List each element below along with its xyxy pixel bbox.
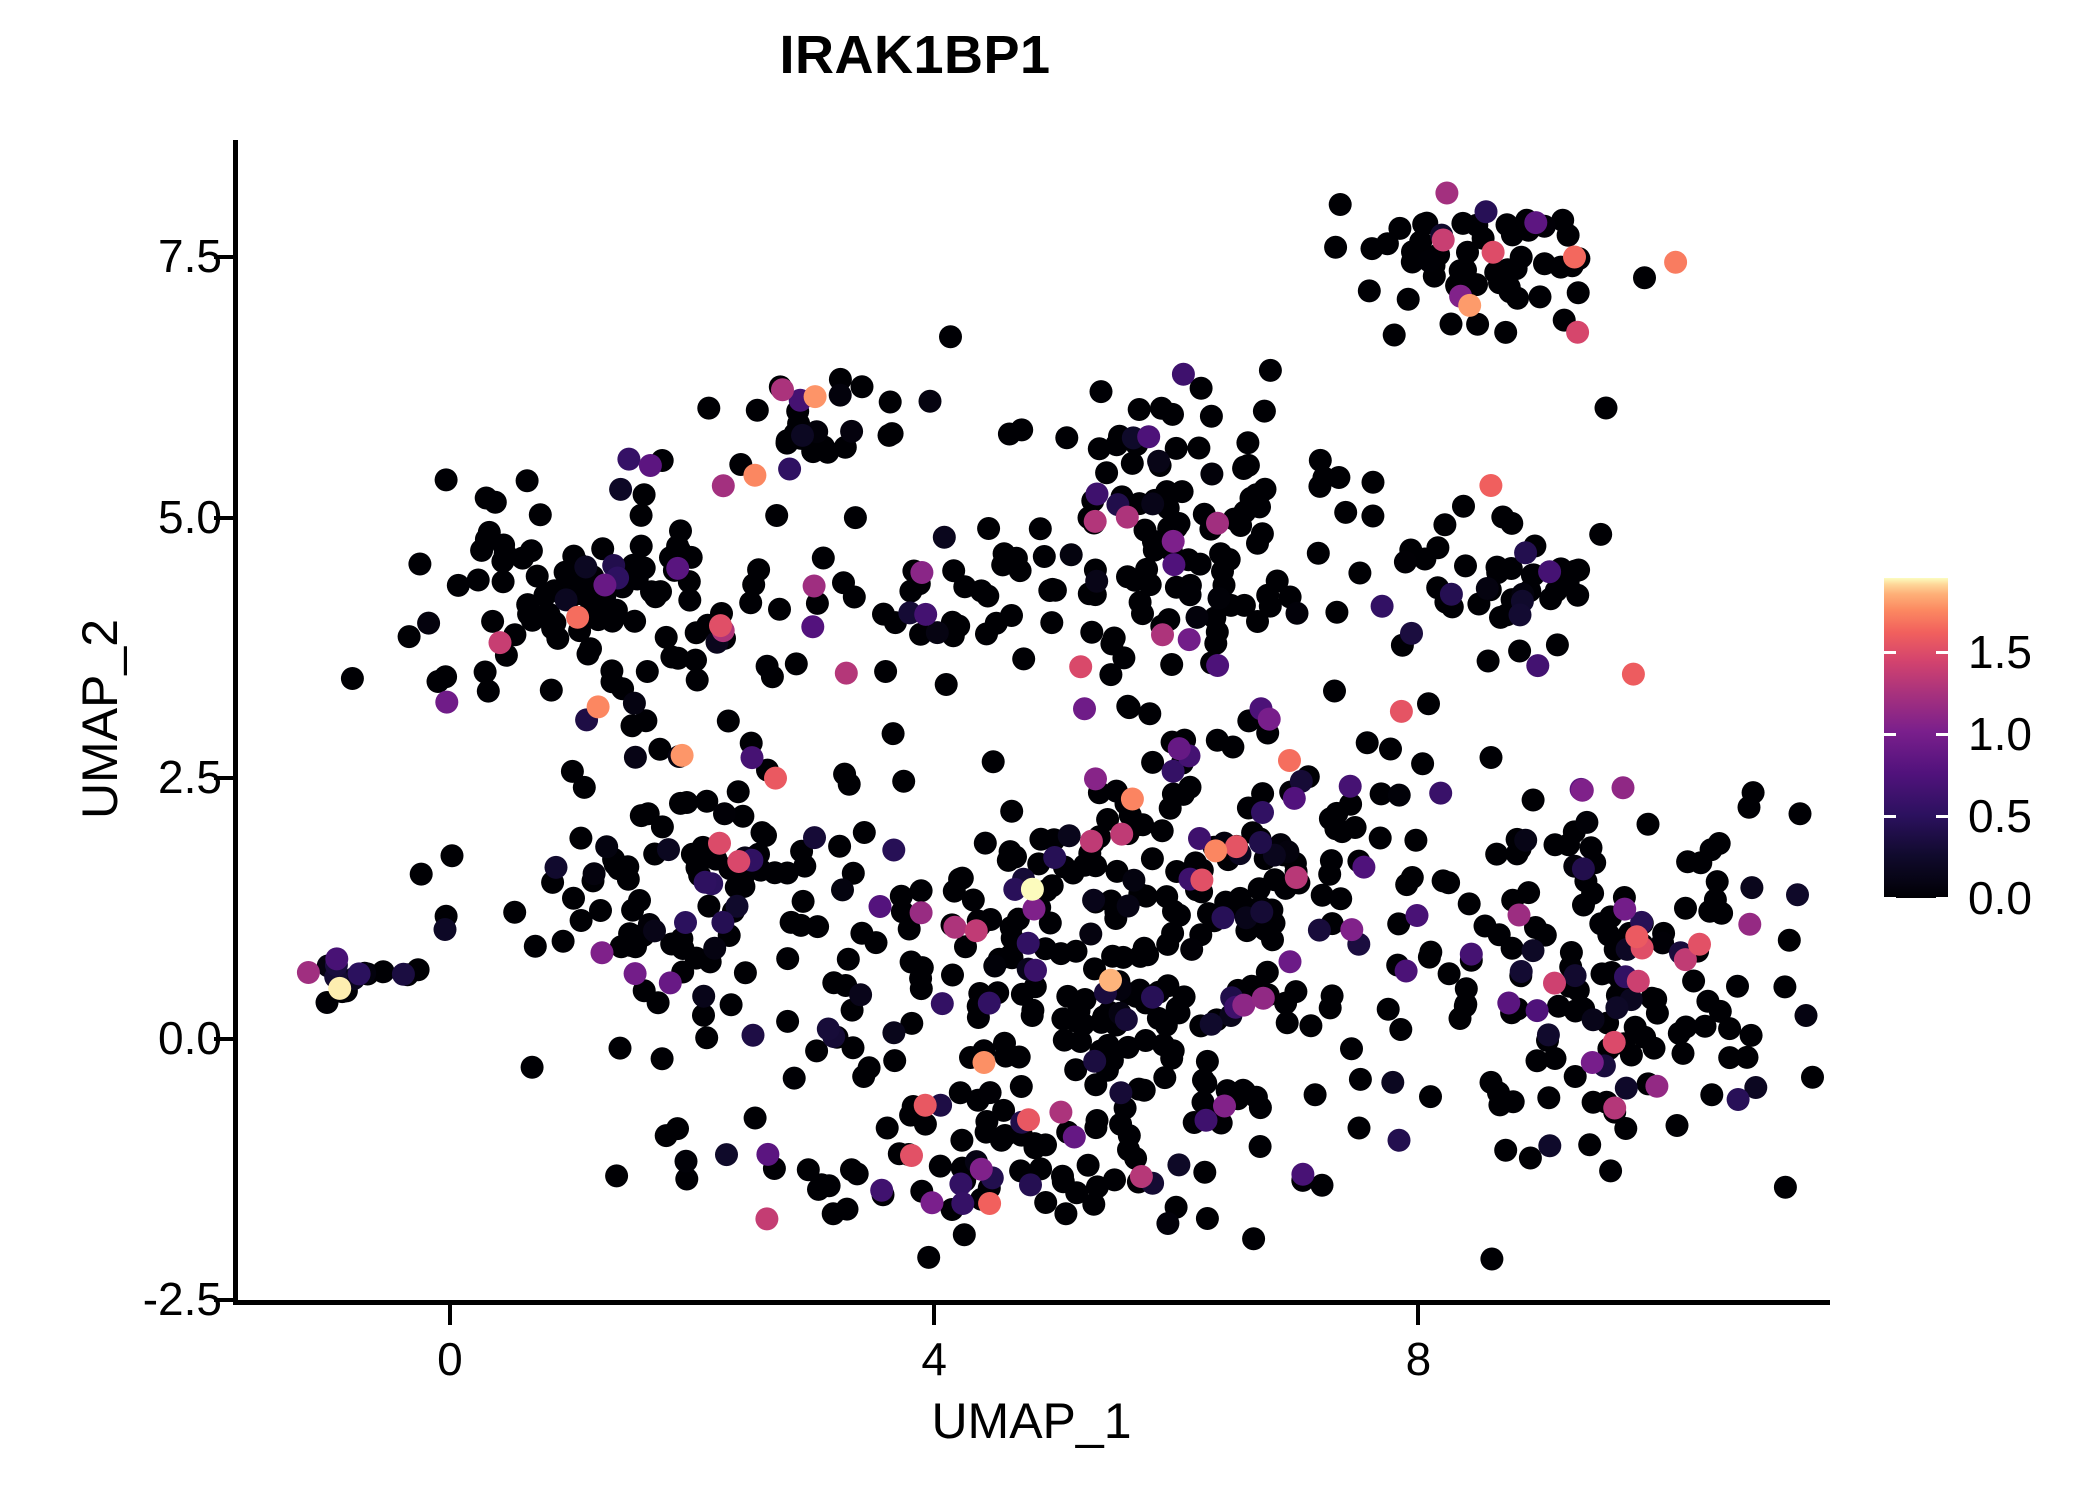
plot-panel	[238, 142, 1830, 1300]
scatter-point	[1038, 579, 1061, 602]
scatter-point	[1682, 970, 1705, 993]
scatter-point	[417, 612, 440, 635]
colorbar-tick-mark	[1884, 815, 1896, 818]
scatter-point	[674, 911, 697, 934]
scatter-point	[1440, 313, 1463, 336]
scatter-point	[1557, 224, 1580, 247]
scatter-point	[492, 570, 515, 593]
scatter-point	[562, 887, 585, 910]
scatter-point	[1308, 919, 1331, 942]
scatter-point	[1339, 775, 1362, 798]
scatter-point	[1358, 279, 1381, 302]
scatter-point	[1304, 1083, 1327, 1106]
scatter-point	[1017, 932, 1040, 955]
scatter-point	[1614, 1117, 1637, 1140]
scatter-point	[1254, 478, 1277, 501]
scatter-point	[669, 792, 692, 815]
scatter-point	[1021, 999, 1044, 1022]
scatter-point	[1524, 211, 1547, 234]
scatter-point	[801, 615, 824, 638]
scatter-point	[768, 598, 791, 621]
scatter-point	[639, 454, 662, 477]
scatter-point	[1062, 862, 1085, 885]
scatter-point	[1519, 1147, 1542, 1170]
scatter-point	[470, 539, 493, 562]
colorbar-tick-label: 0.0	[1968, 875, 2032, 921]
scatter-point	[1510, 960, 1533, 983]
scatter-point	[434, 918, 457, 941]
scatter-point	[872, 603, 895, 626]
scatter-point	[1514, 829, 1537, 852]
scatter-point	[1229, 887, 1252, 910]
scatter-point	[1508, 904, 1531, 927]
scatter-point	[1121, 452, 1144, 475]
scatter-point	[1053, 1029, 1076, 1052]
scatter-point	[435, 468, 458, 491]
scatter-point	[1131, 602, 1154, 625]
scatter-point	[765, 504, 788, 527]
scatter-point	[1211, 560, 1234, 583]
scatter-point	[1429, 782, 1452, 805]
scatter-point	[474, 661, 497, 684]
scatter-point	[624, 962, 647, 985]
scatter-point	[778, 458, 801, 481]
scatter-point	[1086, 483, 1109, 506]
scatter-point	[671, 744, 694, 767]
scatter-point	[1795, 1004, 1818, 1027]
scatter-point	[842, 1036, 865, 1059]
scatter-point	[1361, 505, 1384, 528]
scatter-point	[1778, 929, 1801, 952]
scatter-point	[1460, 943, 1483, 966]
scatter-point	[675, 1150, 698, 1173]
scatter-point	[1233, 594, 1256, 617]
scatter-point	[1139, 573, 1162, 596]
scatter-point	[965, 919, 988, 942]
scatter-point	[1010, 1075, 1033, 1098]
scatter-point	[715, 1143, 738, 1166]
scatter-point	[481, 610, 504, 633]
scatter-point	[1252, 987, 1275, 1010]
scatter-point	[708, 832, 731, 855]
scatter-point	[441, 844, 464, 867]
scatter-point	[1186, 606, 1209, 629]
scatter-point	[623, 692, 646, 715]
scatter-point	[591, 941, 614, 964]
scatter-point	[1156, 1212, 1179, 1235]
scatter-point	[1458, 892, 1481, 915]
scatter-point	[1118, 696, 1141, 719]
scatter-point	[1263, 868, 1286, 891]
scatter-point	[341, 667, 364, 690]
y-axis-line	[233, 140, 238, 1305]
scatter-point	[1249, 1135, 1272, 1158]
scatter-point	[869, 895, 892, 918]
scatter-point	[1676, 850, 1699, 873]
scatter-point	[1564, 964, 1587, 987]
scatter-point	[1727, 1088, 1750, 1111]
scatter-point	[755, 1207, 778, 1230]
scatter-point	[1738, 913, 1761, 936]
scatter-point	[1116, 506, 1139, 529]
x-tick-label: 8	[1358, 1336, 1478, 1382]
colorbar-gradient	[1884, 578, 1948, 898]
scatter-point	[1786, 883, 1809, 906]
scatter-point	[484, 491, 507, 514]
scatter-point	[491, 550, 514, 573]
scatter-point	[1613, 898, 1636, 921]
scatter-point	[1773, 975, 1796, 998]
scatter-point	[1010, 418, 1033, 441]
scatter-point	[1051, 1007, 1074, 1030]
scatter-point	[970, 1158, 993, 1181]
scatter-point	[630, 504, 653, 527]
scatter-point	[1789, 802, 1812, 825]
scatter-point	[1538, 1134, 1561, 1157]
scatter-point	[1080, 621, 1103, 644]
scatter-point	[1112, 946, 1135, 969]
scatter-point	[982, 750, 1005, 773]
scatter-point	[1440, 583, 1463, 606]
scatter-point	[697, 397, 720, 420]
scatter-point	[651, 1047, 674, 1070]
scatter-point	[686, 669, 709, 692]
scatter-point	[807, 1178, 830, 1201]
scatter-point	[1212, 906, 1235, 929]
scatter-point	[1325, 601, 1348, 624]
scatter-point	[1196, 1207, 1219, 1230]
scatter-point	[874, 660, 897, 683]
scatter-point	[1117, 895, 1140, 918]
scatter-point	[776, 947, 799, 970]
scatter-point	[552, 930, 575, 953]
scatter-point	[1710, 902, 1733, 925]
scatter-point	[574, 556, 597, 579]
scatter-point	[734, 961, 757, 984]
scatter-point	[1589, 523, 1612, 546]
scatter-point	[624, 746, 647, 769]
scatter-point	[1526, 999, 1549, 1022]
scatter-point	[589, 899, 612, 922]
colorbar-legend: 0.00.51.01.5	[1884, 578, 1948, 898]
scatter-point	[1043, 846, 1066, 869]
scatter-point	[1340, 1037, 1363, 1060]
scatter-point	[879, 391, 902, 414]
scatter-point	[1487, 1081, 1510, 1104]
scatter-point	[1084, 510, 1107, 533]
scatter-point	[1023, 898, 1046, 921]
scatter-point	[1134, 1029, 1157, 1052]
scatter-point	[1637, 813, 1660, 836]
scatter-point	[1738, 796, 1761, 819]
scatter-point	[1774, 1176, 1797, 1199]
scatter-point	[1432, 229, 1455, 252]
scatter-point	[1696, 990, 1719, 1013]
scatter-point	[917, 1246, 940, 1269]
scatter-point	[657, 838, 680, 861]
scatter-point	[1085, 570, 1108, 593]
y-tick-label: -2.5	[143, 1276, 222, 1322]
scatter-point	[1452, 495, 1475, 518]
scatter-point	[709, 614, 732, 637]
scatter-point	[1284, 980, 1307, 1003]
scatter-point	[1099, 663, 1122, 686]
scatter-point	[870, 1179, 893, 1202]
scatter-point	[1055, 426, 1078, 449]
scatter-point	[1356, 731, 1379, 754]
scatter-point	[1189, 553, 1212, 576]
scatter-points	[238, 142, 1830, 1300]
scatter-point	[1563, 246, 1586, 269]
scatter-point	[1395, 960, 1418, 983]
scatter-point	[1603, 1097, 1626, 1120]
scatter-point	[666, 557, 689, 580]
scatter-point	[1321, 984, 1344, 1007]
scatter-point	[621, 714, 644, 737]
scatter-point	[1740, 1024, 1763, 1047]
scatter-point	[1137, 425, 1160, 448]
scatter-point	[1179, 583, 1202, 606]
scatter-point	[742, 1024, 765, 1047]
scatter-point	[1726, 975, 1749, 998]
scatter-point	[1073, 697, 1096, 720]
scatter-point	[593, 574, 616, 597]
scatter-point	[577, 643, 600, 666]
scatter-point	[1397, 288, 1420, 311]
scatter-point	[1437, 871, 1460, 894]
scatter-point	[1246, 532, 1269, 555]
scatter-point	[1200, 463, 1223, 486]
scatter-point	[1012, 647, 1035, 670]
scatter-point	[1349, 1068, 1372, 1091]
scatter-point	[806, 915, 829, 938]
scatter-point	[1497, 992, 1520, 1015]
scatter-point	[951, 1192, 974, 1215]
scatter-point	[1058, 824, 1081, 847]
colorbar-tick-label: 1.0	[1968, 711, 2032, 757]
y-tick-label: 2.5	[158, 754, 222, 800]
scatter-point	[570, 909, 593, 932]
scatter-point	[1160, 653, 1183, 676]
scatter-point	[1622, 663, 1645, 686]
scatter-point	[1566, 321, 1589, 344]
scatter-point	[1180, 938, 1203, 961]
scatter-point	[1276, 1011, 1299, 1034]
scatter-point	[1193, 1161, 1216, 1184]
scatter-point	[398, 625, 421, 648]
y-tick-label: 0.0	[158, 1015, 222, 1061]
colorbar-tick-mark	[1936, 651, 1948, 654]
scatter-point	[1004, 845, 1027, 868]
scatter-point	[477, 680, 500, 703]
scatter-point	[1329, 193, 1352, 216]
scatter-point	[1526, 1049, 1549, 1072]
scatter-point	[892, 770, 915, 793]
scatter-point	[1190, 869, 1213, 892]
scatter-point	[703, 937, 726, 960]
scatter-point	[601, 610, 624, 633]
scatter-point	[655, 1124, 678, 1147]
scatter-point	[1362, 471, 1385, 494]
scatter-point	[392, 963, 415, 986]
scatter-point	[727, 780, 750, 803]
scatter-point	[1060, 543, 1083, 566]
scatter-point	[601, 670, 624, 693]
scatter-point	[651, 815, 674, 838]
colorbar-tick-mark	[1884, 733, 1896, 736]
scatter-point	[1307, 542, 1330, 565]
scatter-point	[1084, 1116, 1107, 1139]
scatter-point	[1688, 933, 1711, 956]
scatter-point	[516, 469, 539, 492]
colorbar-tick-mark	[1884, 897, 1896, 900]
scatter-point	[1557, 833, 1580, 856]
y-axis-title: UMAP_2	[71, 319, 129, 1119]
scatter-point	[835, 662, 858, 685]
x-tick-label: 4	[874, 1336, 994, 1382]
scatter-point	[1130, 1165, 1153, 1188]
scatter-point	[1456, 241, 1479, 264]
scatter-point	[741, 746, 764, 769]
scatter-point	[828, 835, 851, 858]
scatter-point	[876, 1117, 899, 1140]
scatter-point	[1449, 1007, 1472, 1030]
scatter-point	[882, 839, 905, 862]
scatter-point	[792, 890, 815, 913]
scatter-point	[1482, 241, 1505, 264]
scatter-point	[939, 325, 962, 348]
scatter-point	[1192, 1069, 1215, 1092]
scatter-point	[1033, 545, 1056, 568]
scatter-point	[1388, 784, 1411, 807]
scatter-point	[1320, 849, 1343, 872]
colorbar-tick-mark	[1936, 815, 1948, 818]
scatter-point	[948, 868, 971, 891]
scatter-point	[1508, 640, 1531, 663]
page-title: IRAK1BP1	[0, 24, 1830, 86]
scatter-point	[973, 1051, 996, 1074]
scatter-point	[1161, 403, 1184, 426]
scatter-point	[1334, 501, 1357, 524]
scatter-point	[739, 591, 762, 614]
scatter-point	[1311, 884, 1334, 907]
scatter-point	[900, 1144, 923, 1167]
scatter-point	[953, 1223, 976, 1246]
scatter-point	[935, 673, 958, 696]
scatter-point	[1377, 998, 1400, 1021]
scatter-point	[974, 832, 997, 855]
scatter-point	[1000, 800, 1023, 823]
scatter-point	[325, 947, 348, 970]
scatter-point	[521, 1056, 544, 1079]
scatter-point	[1141, 751, 1164, 774]
x-tick-mark	[1416, 1305, 1420, 1325]
scatter-point	[684, 845, 707, 868]
scatter-point	[1204, 632, 1227, 655]
scatter-point	[1168, 737, 1191, 760]
x-tick-mark	[932, 1305, 936, 1325]
scatter-point	[1049, 942, 1072, 965]
scatter-point	[1476, 577, 1499, 600]
scatter-point	[1485, 843, 1508, 866]
scatter-point	[1491, 506, 1514, 529]
scatter-point	[541, 617, 564, 640]
scatter-point	[978, 992, 1001, 1015]
scatter-point	[1063, 1126, 1086, 1149]
scatter-point	[756, 655, 779, 678]
scatter-point	[910, 879, 933, 902]
scatter-point	[1706, 870, 1729, 893]
scatter-point	[605, 1164, 628, 1187]
scatter-point	[1141, 986, 1164, 1009]
scatter-point	[297, 961, 320, 984]
scatter-point	[1400, 622, 1423, 645]
scatter-point	[1259, 359, 1282, 382]
scatter-point	[1413, 548, 1436, 571]
scatter-point	[1278, 749, 1301, 772]
scatter-point	[851, 375, 874, 398]
scatter-point	[1389, 1018, 1412, 1041]
scatter-point	[1560, 941, 1583, 964]
scatter-point	[617, 448, 640, 471]
scatter-point	[649, 580, 672, 603]
scatter-point	[1069, 655, 1092, 678]
scatter-point	[1371, 595, 1394, 618]
scatter-point	[975, 622, 998, 645]
scatter-point	[1156, 933, 1179, 956]
scatter-point	[1099, 969, 1122, 992]
scatter-point	[1187, 437, 1210, 460]
scatter-point	[583, 862, 606, 885]
scatter-point	[1291, 1163, 1314, 1186]
scatter-point	[1115, 1008, 1138, 1031]
scatter-point	[1383, 324, 1406, 347]
scatter-point	[630, 804, 653, 827]
scatter-point	[831, 878, 854, 901]
scatter-point	[1040, 611, 1063, 634]
scatter-point	[633, 557, 656, 580]
scatter-point	[919, 390, 942, 413]
scatter-point	[1479, 474, 1502, 497]
scatter-point	[1543, 972, 1566, 995]
scatter-point	[743, 464, 766, 487]
scatter-point	[1136, 943, 1159, 966]
scatter-point	[756, 1143, 779, 1166]
scatter-point	[1118, 1124, 1141, 1147]
scatter-point	[1537, 1086, 1560, 1109]
scatter-point	[1206, 654, 1229, 677]
scatter-point	[1644, 988, 1667, 1011]
scatter-point	[1740, 876, 1763, 899]
scatter-point	[1418, 250, 1441, 273]
scatter-point	[1178, 628, 1201, 651]
scatter-point	[1084, 767, 1107, 790]
scatter-point	[849, 983, 872, 1006]
scatter-point	[1179, 776, 1202, 799]
scatter-point	[1376, 232, 1399, 255]
scatter-point	[1167, 1153, 1190, 1176]
scatter-point	[1195, 1109, 1218, 1132]
scatter-point	[1200, 1013, 1223, 1036]
scatter-point	[1494, 1139, 1517, 1162]
colorbar-tick-mark	[1936, 897, 1948, 900]
x-axis-title: UMAP_1	[233, 1392, 1830, 1450]
scatter-point	[858, 1056, 881, 1079]
scatter-point	[1612, 776, 1635, 799]
scatter-point	[1480, 746, 1503, 769]
scatter-point	[1082, 889, 1105, 912]
scatter-point	[979, 1081, 1002, 1104]
